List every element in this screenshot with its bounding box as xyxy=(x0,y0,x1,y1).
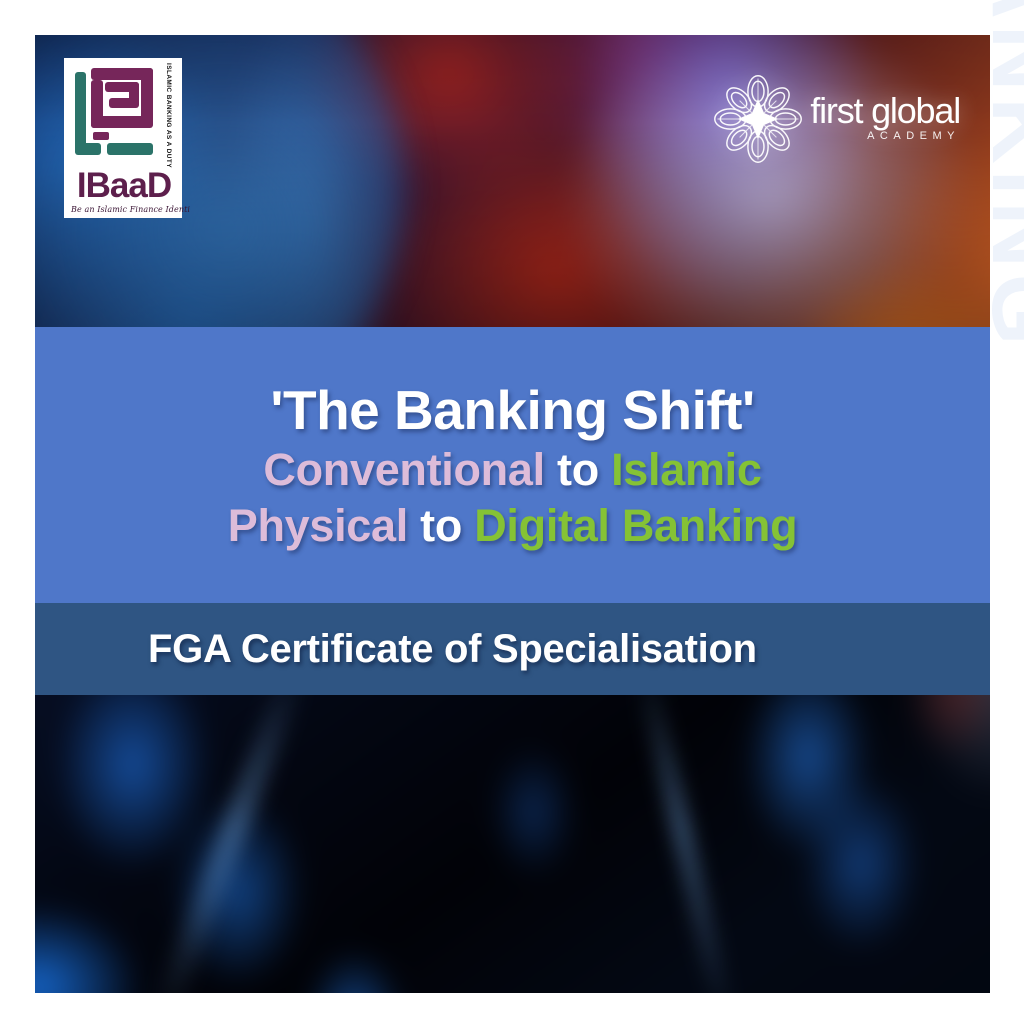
title-line-2: Conventional to Islamic xyxy=(263,443,761,497)
first-global-academy-logo[interactable]: first global ACADEMY xyxy=(712,73,960,165)
ibaad-wordmark: IBaaD xyxy=(71,169,177,202)
ibaad-vertical-tagline-wrap: ISLAMIC BANKING AS A DUTY xyxy=(157,64,179,168)
fga-logo-text: first global ACADEMY xyxy=(810,93,960,146)
title-line-3-part-1: Physical xyxy=(228,500,408,551)
subtitle-text: FGA Certificate of Specialisation xyxy=(148,627,757,672)
title-line-2-part-2: to xyxy=(545,444,611,495)
ibaad-kufic-maze-icon xyxy=(71,64,157,159)
title-line-3-part-2: to xyxy=(408,500,474,551)
title-line-3: Physical to Digital Banking xyxy=(228,499,798,553)
title-line-2-part-1: Conventional xyxy=(263,444,544,495)
hero-image: ISLAMIC BANKING AS A DUTY IBaaD Be an Is… xyxy=(35,35,990,327)
fga-logo-name: first global xyxy=(810,93,960,129)
title-line-3-part-3: Digital Banking xyxy=(474,500,797,551)
promotional-poster: BANKING ISLAMIC BANKING AS A DUTY xyxy=(0,0,1024,1024)
main-title: 'The Banking Shift' xyxy=(270,381,754,440)
ibaad-tagline: Be an Islamic Finance Identi xyxy=(71,205,177,214)
ibaad-vertical-tagline: ISLAMIC BANKING AS A DUTY xyxy=(165,63,172,168)
ibaad-logo[interactable]: ISLAMIC BANKING AS A DUTY IBaaD Be an Is… xyxy=(64,58,182,218)
fga-logo-sub: ACADEMY xyxy=(810,131,960,142)
title-band: 'The Banking Shift' Conventional to Isla… xyxy=(35,327,990,603)
bottom-image xyxy=(35,695,990,993)
subtitle-bar: FGA Certificate of Specialisation xyxy=(35,603,990,695)
poster-card: ISLAMIC BANKING AS A DUTY IBaaD Be an Is… xyxy=(35,35,990,993)
eight-point-star-mandala-icon xyxy=(712,73,804,165)
ibaad-logo-top: ISLAMIC BANKING AS A DUTY xyxy=(71,64,177,168)
title-line-2-part-3: Islamic xyxy=(611,444,762,495)
